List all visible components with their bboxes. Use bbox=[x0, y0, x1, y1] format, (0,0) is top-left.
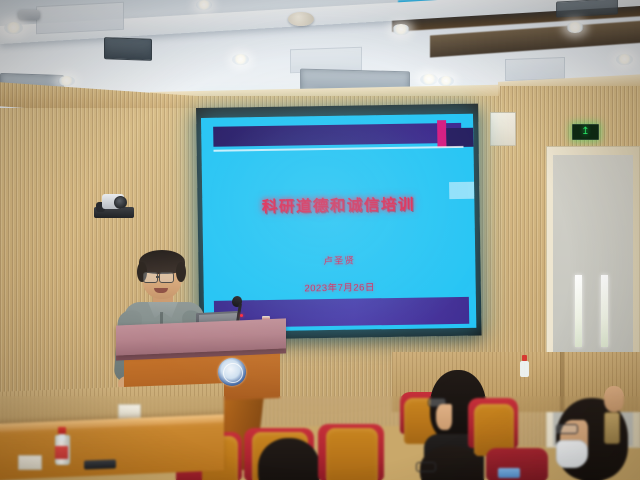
wall-access-plate bbox=[490, 112, 516, 146]
smoke-detector-icon bbox=[288, 12, 314, 26]
slide-top-bar bbox=[213, 123, 461, 147]
glasses-bridge bbox=[156, 276, 160, 278]
slide-pink-accent bbox=[437, 120, 446, 147]
ceiling-downlight bbox=[420, 74, 438, 85]
power-socket[interactable] bbox=[18, 455, 42, 470]
slide-title: 科研道德和诚信培训 bbox=[202, 192, 474, 218]
led-presentation-screen[interactable]: 科研道德和诚信培训 卢圣贤 2023年7月26日 bbox=[201, 114, 476, 332]
ceiling-access-panel bbox=[36, 2, 124, 35]
bottle-label bbox=[55, 446, 68, 459]
glasses-lens-right-icon bbox=[159, 272, 174, 283]
lecture-hall-photo: ↥ 科研道德和诚信培训 卢圣贤 2023年7月26日 bbox=[0, 0, 640, 480]
seat-back bbox=[326, 428, 378, 480]
exit-sign: ↥ bbox=[572, 124, 599, 140]
audience-glasses-icon bbox=[416, 462, 436, 472]
slide: 科研道德和诚信培训 卢圣贤 2023年7月26日 bbox=[201, 114, 476, 332]
university-crest-icon bbox=[218, 358, 246, 386]
ceiling-downlight bbox=[392, 24, 410, 35]
presenter-hair-side bbox=[176, 262, 186, 282]
ceiling-downlight bbox=[566, 22, 584, 33]
ceiling-speaker-icon bbox=[18, 10, 40, 20]
smartphone[interactable] bbox=[84, 459, 116, 469]
audience-hand bbox=[604, 386, 624, 412]
ceiling-downlight bbox=[232, 54, 249, 65]
ceiling-downlight bbox=[58, 76, 75, 86]
ceiling-downlight bbox=[4, 22, 23, 34]
ceiling-downlight bbox=[438, 76, 454, 86]
ceiling-access-panel bbox=[505, 57, 565, 81]
slide-navy-block bbox=[446, 128, 473, 147]
hair-clip-icon bbox=[604, 412, 620, 444]
wall-divider bbox=[560, 352, 564, 412]
water-bottle[interactable] bbox=[55, 427, 68, 465]
ac-vent bbox=[104, 37, 152, 61]
camera-lens-icon bbox=[114, 196, 127, 209]
ceiling-downlight bbox=[196, 0, 212, 10]
microphone-status-led bbox=[240, 314, 243, 317]
bottle-neck bbox=[59, 433, 65, 441]
door-glass-panel bbox=[575, 275, 582, 347]
bottle-cap bbox=[58, 427, 66, 434]
glasses-lens-left-icon bbox=[143, 272, 158, 283]
door-glass-panel bbox=[601, 275, 608, 347]
exit-running-man-icon: ↥ bbox=[581, 127, 589, 137]
audience-face bbox=[436, 404, 452, 430]
power-socket[interactable] bbox=[118, 404, 141, 419]
face-mask-icon bbox=[556, 440, 588, 468]
phone-screen bbox=[498, 468, 520, 478]
audience-glasses-icon bbox=[556, 424, 578, 434]
ceiling-downlight bbox=[616, 54, 633, 65]
ptz-camera-icon bbox=[92, 193, 138, 227]
water-bottle-far bbox=[520, 355, 529, 377]
